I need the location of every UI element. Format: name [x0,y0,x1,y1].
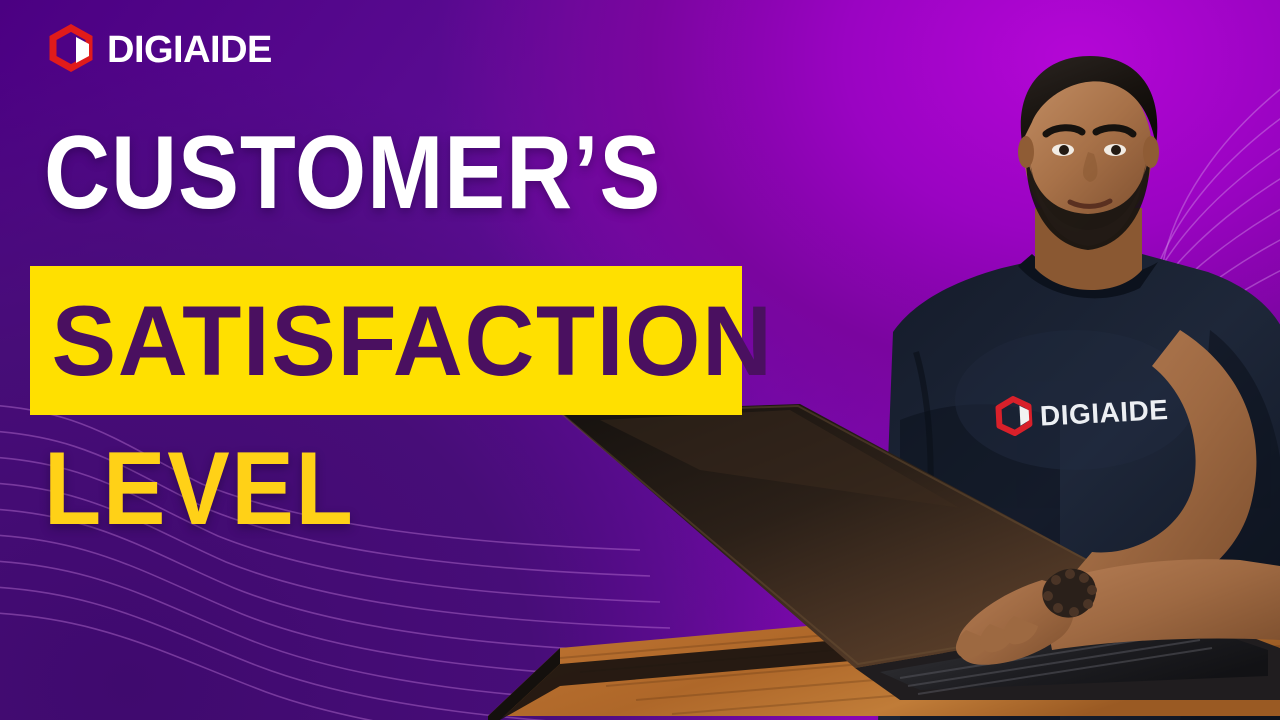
brand-logo[interactable]: DIGIAIDE [46,24,272,76]
headline-line-2: SATISFACTION [30,291,773,390]
headline-line-3: LEVEL [44,440,355,539]
hexagon-arrow-logo-icon [46,24,98,76]
thumbnail-canvas: DIGIAIDE [0,0,1280,720]
headline-highlight-band: SATISFACTION [30,266,742,415]
headline-line-1: CUSTOMER’S [44,126,661,222]
brand-name: DIGIAIDE [107,31,272,69]
